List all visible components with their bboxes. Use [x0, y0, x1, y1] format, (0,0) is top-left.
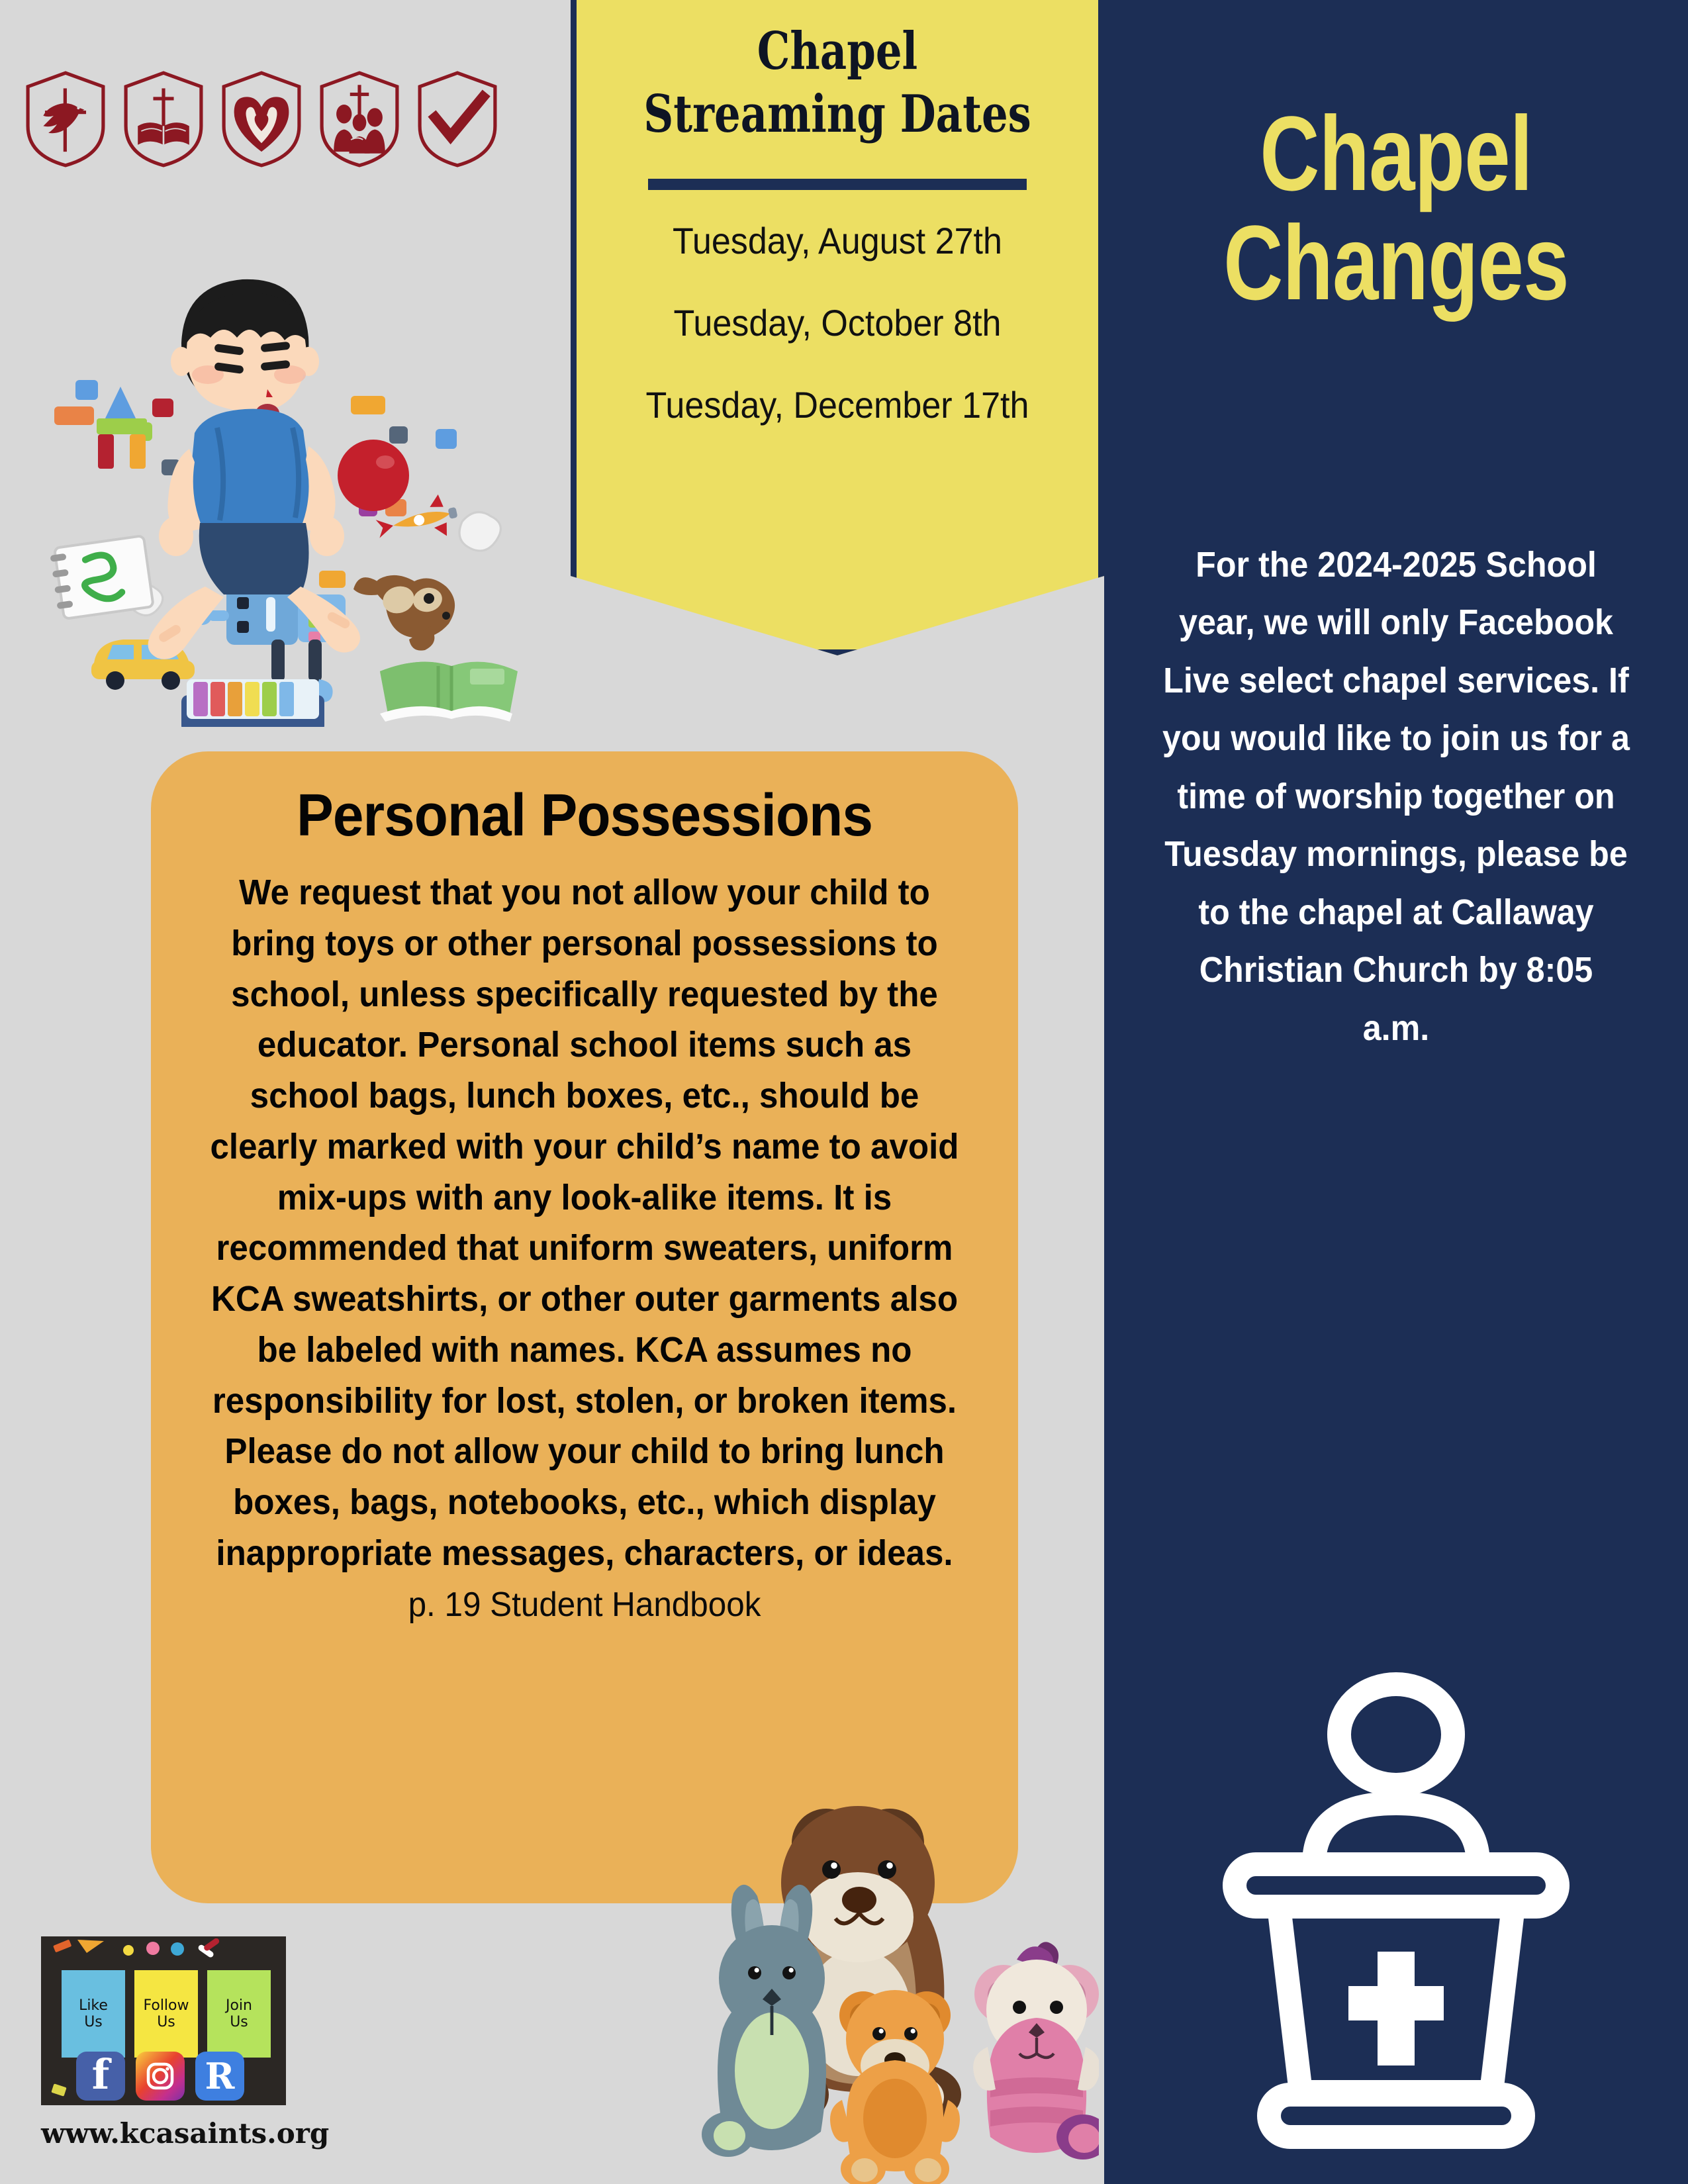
chapel-streaming-banner-content: Chapel Streaming Dates Tuesday, August 2…: [571, 0, 1104, 655]
social-media-card[interactable]: Like Us Follow Us Join Us f R: [41, 1936, 286, 2105]
bible-cross-shield: [120, 70, 207, 169]
like-us-note[interactable]: Like Us: [62, 1970, 125, 2058]
join-us-note[interactable]: Join Us: [207, 1970, 271, 2058]
chapel-changes-panel: Chapel Changes For the 2024-2025 School …: [1104, 0, 1688, 2184]
checkmark-shield: [414, 70, 500, 169]
social-icons-row: f R: [76, 2052, 244, 2101]
join-us-line2: Us: [230, 2014, 248, 2030]
plush-toys-illustration: [688, 1801, 1099, 2184]
facebook-icon[interactable]: f: [76, 2052, 125, 2101]
streaming-dates-list: Tuesday, August 27th Tuesday, October 8t…: [571, 220, 1104, 425]
streaming-title-line2: Streaming Dates: [624, 83, 1051, 146]
streaming-title-line1: Chapel: [624, 20, 1051, 83]
website-url[interactable]: www.kcasaints.org: [41, 2117, 306, 2150]
poster-canvas: Chapel Streaming Dates Tuesday, August 2…: [0, 0, 1688, 2184]
personal-possessions-title: Personal Possessions: [216, 786, 953, 845]
heart-hands-shield: [218, 70, 305, 169]
sticky-notes-row: Like Us Follow Us Join Us: [62, 1970, 271, 2058]
streaming-date-2: Tuesday, October 8th: [589, 303, 1086, 344]
like-us-line1: Like: [79, 1997, 108, 2014]
instagram-icon[interactable]: [136, 2052, 185, 2101]
instagram-glyph: [144, 2060, 176, 2092]
follow-us-note[interactable]: Follow Us: [134, 1970, 198, 2058]
follow-us-line1: Follow: [143, 1997, 189, 2014]
chapel-changes-title-line2: Changes: [1168, 209, 1624, 318]
pulpit-podium-cross-icon: [1104, 1671, 1688, 2161]
streaming-banner-title: Chapel Streaming Dates: [624, 20, 1051, 146]
join-us-line1: Join: [226, 1997, 252, 2014]
like-us-line2: Us: [84, 2014, 103, 2030]
personal-possessions-body: We request that you not allow your child…: [206, 868, 963, 1580]
family-cross-shield: [316, 70, 402, 169]
chapel-changes-body: For the 2024-2025 School year, we will o…: [1162, 536, 1631, 1057]
streaming-divider-rule: [648, 179, 1027, 190]
chapel-changes-title-line1: Chapel: [1168, 99, 1624, 209]
personal-possessions-citation: p. 19 Student Handbook: [208, 1585, 961, 1625]
follow-us-line2: Us: [157, 2014, 175, 2030]
remind-icon[interactable]: R: [195, 2052, 244, 2101]
streaming-date-1: Tuesday, August 27th: [589, 220, 1086, 261]
personal-possessions-card: Personal Possessions We request that you…: [151, 751, 1018, 1903]
streaming-date-3: Tuesday, December 17th: [589, 385, 1086, 426]
core-values-shield-row: [23, 70, 500, 169]
dove-cross-shield: [23, 70, 109, 169]
chapel-changes-title: Chapel Changes: [1168, 99, 1624, 318]
boy-with-toys-illustration: [25, 263, 518, 730]
